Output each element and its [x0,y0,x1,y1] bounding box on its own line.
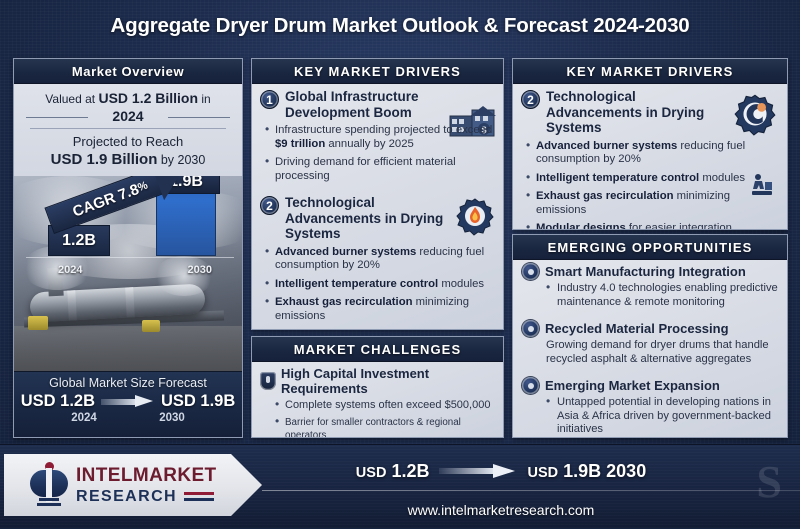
projected-suffix: by 2030 [161,153,205,167]
brand-logo-words: INTELMARKET RESEARCH [76,465,217,506]
driver-2-bullet: Intelligent temperature control modules [264,278,495,292]
challenge-item-1: High Capital Investment Requirements Com… [252,362,503,438]
mid-key-market-drivers-panel: KEY MARKET DRIVERS 1 Global Infrastructu… [251,58,504,330]
machine-part [28,316,48,330]
emerging-opportunities-header: EMERGING OPPORTUNITIES [513,235,787,260]
infographic-root: Aggregate Dryer Drum Market Outlook & Fo… [0,0,800,528]
footer-from: USD 1.2B [356,461,430,482]
driver-1-bullets: Infrastructure spending projected to exc… [264,124,495,183]
opportunity-item-2: Recycled Material Processing Growing dem… [513,317,787,374]
bullet-bold: Intelligent temperature control [275,278,438,290]
right-key-market-drivers-panel: KEY MARKET DRIVERS 2 Technological Advan… [512,58,788,230]
footer-from-label: USD [356,465,387,481]
opportunity-item-3: Emerging Market Expansion Untapped poten… [513,374,787,438]
bullet-post: modules [438,278,484,290]
forecast-year-to: 2030 [159,412,185,424]
market-size-forecast-strip: Global Market Size Forecast USD 1.2B USD… [14,371,242,437]
footer-content: USD 1.2B USD 1.9B 2030 www.intelmarketre… [262,445,800,529]
forecast-from-value: USD 1.2B [21,392,95,411]
right-driver-item-2: 2 Technological Advancements in Drying S… [513,84,787,230]
market-size-forecast-years: 2024 2030 [14,412,242,424]
bullet-bold: Modular designs [536,222,626,230]
opportunity-2-title: Recycled Material Processing [545,321,729,336]
number-badge-2: 2 [521,90,540,109]
base-year: 2024 [24,108,232,125]
driver-2-bullet: Exhaust gas recirculation minimizing emi… [264,296,495,323]
bullet-pre: Driving demand for efficient material pr… [275,156,456,182]
right-drivers-header: KEY MARKET DRIVERS [513,59,787,84]
market-overview-stats: Valued at USD 1.2 Billion in 2024 Projec… [14,84,242,176]
forecast-to-value: USD 1.9B [161,392,235,411]
footer-arrow-icon [439,464,517,479]
opportunity-3-head: Emerging Market Expansion [522,377,778,394]
recycle-gear-icon [522,320,539,337]
forecast-chart-photo: 1.2B 1.9B 2024 2030 CAGR 7.8% [14,176,242,372]
machine-part [142,320,160,332]
right-driver-2-bullet: Exhaust gas recirculation minimizing emi… [525,190,779,217]
driver-1-bullet: Driving demand for efficient material pr… [264,156,495,183]
drum-band [125,287,135,317]
right-driver-2-bullets: Advanced burner systems reducing fuel co… [525,140,779,231]
projected-value: USD 1.9 Billion [51,151,158,168]
right-driver-2-title: Technological Advancements in Drying Sys… [546,89,729,136]
chart-year-2030: 2030 [188,264,212,276]
market-overview-header: Market Overview [14,59,242,84]
bullet-bold: Advanced burner systems [536,140,677,152]
overview-divider [30,128,226,129]
market-size-forecast-values: USD 1.2B USD 1.9B [14,392,242,411]
right-driver-2-bullet: Modular designs for easier integration [525,222,779,230]
bullet-bold: Modular designs [275,328,365,330]
footer-forecast-row: USD 1.2B USD 1.9B 2030 [262,453,800,489]
mid-drivers-header: KEY MARKET DRIVERS [252,59,503,84]
opportunity-2-head: Recycled Material Processing [522,320,778,337]
brand-logo[interactable]: INTELMARKET RESEARCH [4,454,262,516]
watermark-icon: S [756,459,782,505]
footer-to: USD 1.9B 2030 [527,461,646,482]
lamp-logo-icon [30,462,68,508]
page-title: Aggregate Dryer Drum Market Outlook & Fo… [111,14,690,38]
challenge-1-bullet: Complete systems often exceed $500,000 [274,399,495,413]
opportunity-3-text: Untapped potential in developing nations… [546,396,778,437]
driver-2-bullet: Advanced burner systems reducing fuel co… [264,246,495,273]
opportunity-2-text: Growing demand for dryer drums that hand… [546,339,778,366]
bullet-pre: Infrastructure spending projected to exc… [275,124,492,136]
title-bar: Aggregate Dryer Drum Market Outlook & Fo… [0,0,800,52]
driver-2-bullets: Advanced burner systems reducing fuel co… [264,246,495,331]
driver-item-2: 2 Technological Advancements in Drying S… [252,190,503,330]
challenge-1-bullet: Barrier for smaller contractors & region… [274,416,495,439]
opportunity-3-title: Emerging Market Expansion [545,378,720,393]
tech-gear-icon [733,92,777,136]
brand-name-line2: RESEARCH [76,488,177,506]
challenge-1-title: High Capital Investment Requirements [281,366,495,396]
number-badge-2: 2 [260,196,279,215]
driver-item-1: 1 Global Infrastructure Development Boom… [252,84,503,190]
drum-band [67,290,77,320]
opportunity-1-head: Smart Manufacturing Integration [522,263,778,280]
footer-to-year: 2030 [606,461,646,481]
ground-plane [14,326,242,372]
brand-bars-icon [184,492,214,501]
valued-value: USD 1.2 Billion [98,90,198,106]
driver-1-title: Global Infrastructure Development Boom [285,89,445,120]
valued-prefix: Valued at [45,92,95,106]
bullet-post: annually by 2025 [325,138,414,150]
bullet-bold: Exhaust gas recirculation [275,296,413,308]
flame-gear-icon [455,196,495,236]
opportunity-1-text: Industry 4.0 technologies enabling predi… [546,282,778,309]
bullet-post: modules [699,172,745,184]
market-challenges-header: MARKET CHALLENGES [252,337,503,362]
valued-suffix: in [201,92,210,106]
footer-to-label: USD [527,465,558,481]
chart-axis [26,257,234,258]
projected-label: Projected to Reach [24,133,232,150]
lock-shield-icon [260,372,276,390]
bullet-bold: $9 trillion [275,138,325,150]
emerging-opportunities-panel: EMERGING OPPORTUNITIES Smart Manufacturi… [512,234,788,438]
market-size-forecast-title: Global Market Size Forecast [14,376,242,390]
market-challenges-panel: MARKET CHALLENGES High Capital Investmen… [251,336,504,438]
challenge-1-bullets: Complete systems often exceed $500,000 B… [274,399,495,438]
bullet-post: for easier integration [626,222,732,230]
globe-gear-icon [522,377,539,394]
valued-at-line: Valued at USD 1.2 Billion in [24,91,232,107]
forecast-arrow-icon [101,395,155,408]
bullet-post: for easier integration [365,328,471,330]
brand-name-line1: INTELMARKET [76,465,217,487]
right-driver-2-bullet: Intelligent temperature control modules [525,172,779,186]
driver-2-title: Technological Advancements in Drying Sys… [285,195,445,242]
footer-separator [262,490,800,491]
brand-name-line2-row: RESEARCH [76,488,217,506]
chart-year-2024: 2024 [58,264,82,276]
smoke-plume [154,256,214,296]
market-overview-panel: Market Overview Valued at USD 1.2 Billio… [13,58,243,438]
footer-to-value: 1.9B [563,461,601,481]
forecast-year-from: 2024 [71,412,97,424]
number-badge-1: 1 [260,90,279,109]
opportunity-1-title: Smart Manufacturing Integration [545,264,746,279]
projected-line: USD 1.9 Billion by 2030 [24,150,232,170]
opportunity-item-1: Smart Manufacturing Integration Industry… [513,260,787,317]
footer-website-url[interactable]: www.intelmarketresearch.com [262,495,800,525]
footer-from-value: 1.2B [391,461,429,481]
bullet-bold: Intelligent temperature control [536,172,699,184]
footer-bar: INTELMARKET RESEARCH USD 1.2B USD 1.9B [0,444,800,528]
driver-1-bullet: Infrastructure spending projected to exc… [264,124,495,151]
gear-icon [522,263,539,280]
driver-2-bullet: Modular designs for easier integration [264,328,495,330]
right-driver-2-bullet: Advanced burner systems reducing fuel co… [525,140,779,167]
bullet-bold: Exhaust gas recirculation [536,190,674,202]
challenge-1-head: High Capital Investment Requirements [260,366,495,396]
bullet-bold: Advanced burner systems [275,246,416,258]
